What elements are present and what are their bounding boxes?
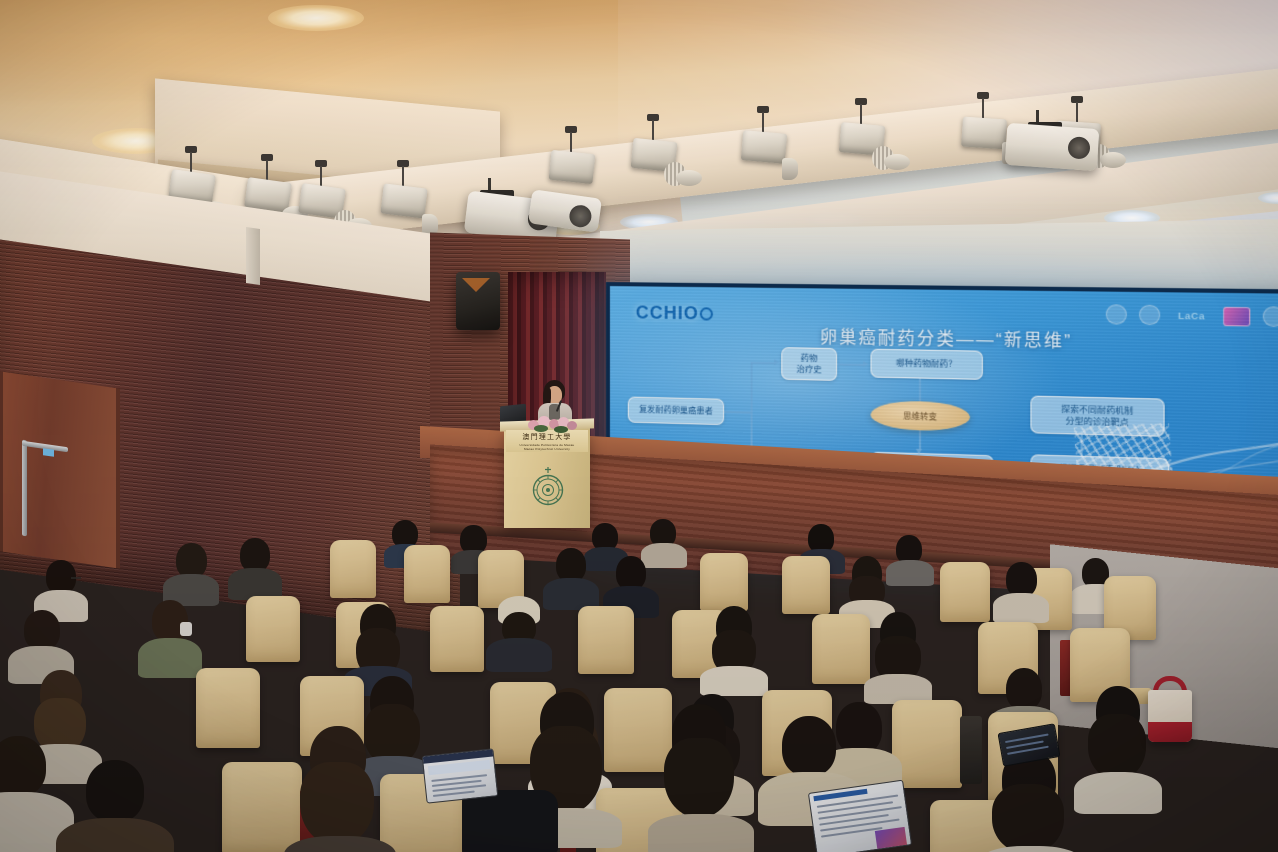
head [24, 610, 60, 650]
auditorium-seat[interactable] [940, 562, 990, 622]
auditorium-seat[interactable] [782, 556, 830, 614]
arrowhead [774, 359, 779, 365]
tablet-thumbnail [875, 827, 907, 849]
crest-svg [528, 466, 568, 508]
door-push-bar[interactable] [22, 440, 27, 537]
podium-flowers [526, 414, 578, 432]
foliage [554, 426, 568, 433]
head [176, 543, 207, 578]
gradient-badge-logo [1223, 306, 1250, 326]
arrowhead [916, 449, 922, 454]
connector [751, 362, 776, 364]
glasses [71, 577, 81, 579]
head [556, 548, 586, 582]
diagram-node-patients: 复发耐药卵巢癌患者 [628, 397, 724, 426]
tote-bag-base [1148, 722, 1192, 742]
auditorium-seat[interactable] [812, 614, 870, 684]
diagram-node-label: 哪种药物耐药？ [896, 358, 957, 371]
connector [919, 379, 921, 404]
shoulders [700, 666, 768, 696]
shoulders [486, 638, 552, 672]
laca-wordmark-logo: LaCa [1172, 306, 1210, 326]
shoulders [648, 814, 754, 852]
cchio-logo-ring [700, 307, 713, 320]
shoulders [56, 818, 174, 852]
university-crest [528, 466, 568, 508]
door-sticker [43, 448, 54, 457]
backpack-body [462, 790, 558, 852]
institute-seal-logo [1263, 306, 1278, 327]
long-hair [1088, 714, 1146, 780]
flower [567, 421, 577, 430]
partner-logo-strip: LaCa [1106, 304, 1278, 327]
auditorium-seat[interactable] [330, 540, 376, 598]
wall-speaker-horn [462, 278, 490, 292]
arrowhead [863, 361, 868, 367]
auditorium-seat[interactable] [404, 545, 450, 603]
shoulders [993, 593, 1049, 623]
shoulders [138, 638, 202, 678]
face-mask [180, 622, 192, 636]
auditorium-seat[interactable] [430, 606, 484, 672]
audience-tablet[interactable] [422, 748, 499, 803]
wall-column [246, 227, 260, 285]
union-emblem-logo [1139, 305, 1160, 325]
diagram-node-label: 药物 治疗史 [796, 352, 821, 375]
auditorium-seat[interactable] [196, 668, 260, 748]
diagram-node-which-drug: 哪种药物耐药？ [870, 349, 982, 380]
society-seal-logo [1106, 304, 1127, 324]
auditorium-seat[interactable] [700, 553, 748, 611]
long-hair [992, 784, 1064, 852]
head [616, 556, 646, 590]
connector [724, 411, 750, 413]
head [836, 702, 882, 754]
tablet-text-line [433, 791, 475, 797]
connector [837, 363, 864, 365]
foliage [534, 425, 548, 432]
head [0, 736, 46, 796]
audience-tablet[interactable] [808, 780, 912, 852]
podium-name-english: Macao Polytechnic University [524, 447, 570, 451]
head [1006, 668, 1042, 710]
podium-nameplate: 澳門理工大學 Universidade Politécnica de Macau… [506, 430, 588, 452]
auditorium-seat[interactable] [892, 700, 962, 788]
long-hair [300, 762, 374, 846]
seat-armrest [960, 716, 982, 784]
auditorium-seat[interactable] [604, 688, 672, 772]
head [240, 538, 270, 572]
auditorium-seat[interactable] [578, 606, 634, 674]
shoulders [641, 543, 687, 568]
head [86, 760, 144, 822]
auditorium-seat[interactable] [246, 596, 300, 662]
lecture-hall-photo: CCHIO LaCa 卵巢癌耐药分类——“新思维” 复发耐药卵巢癌患者 [0, 0, 1278, 852]
shoulders [886, 560, 934, 586]
connector [919, 430, 921, 451]
hall-door[interactable] [0, 371, 120, 568]
shoulders [1074, 772, 1162, 814]
head [1006, 562, 1037, 597]
diagram-node-drug-history: 药物 治疗史 [781, 347, 837, 381]
diagram-node-label: 复发耐药卵巢癌患者 [639, 404, 713, 417]
head [782, 716, 836, 776]
podium-name-chinese: 澳門理工大學 [522, 432, 571, 442]
downlight [268, 5, 364, 31]
auditorium-seat[interactable] [222, 762, 302, 852]
long-hair [664, 738, 734, 818]
